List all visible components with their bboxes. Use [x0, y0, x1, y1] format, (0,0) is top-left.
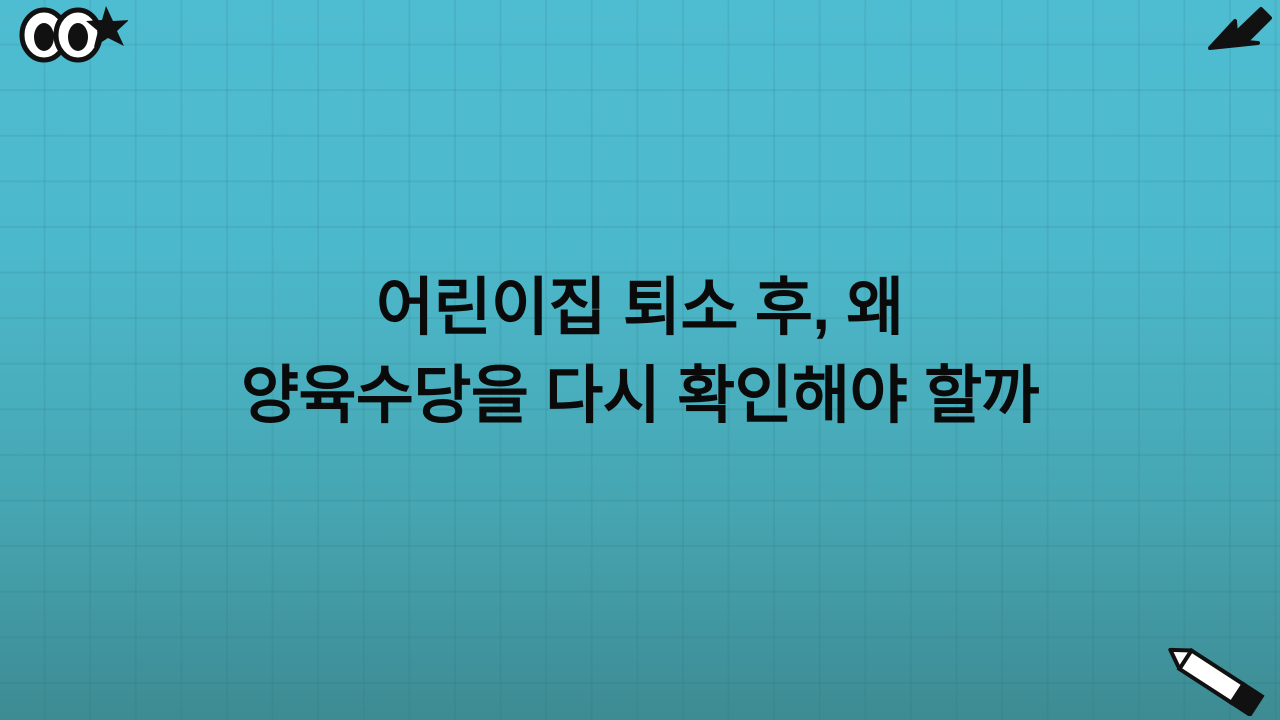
eye-right [56, 10, 100, 60]
arrow-cursor-icon [1205, 4, 1275, 64]
eyes-star-icon [8, 2, 128, 69]
title-line-1: 어린이집 퇴소 후, 왜 [70, 264, 1210, 352]
thumbnail-canvas: 어린이집 퇴소 후, 왜 양육수당을 다시 확인해야 할까 [0, 0, 1280, 720]
page-title: 어린이집 퇴소 후, 왜 양육수당을 다시 확인해야 할까 [0, 264, 1280, 440]
title-line-2: 양육수당을 다시 확인해야 할까 [70, 352, 1210, 440]
pencil-icon [1158, 642, 1276, 720]
